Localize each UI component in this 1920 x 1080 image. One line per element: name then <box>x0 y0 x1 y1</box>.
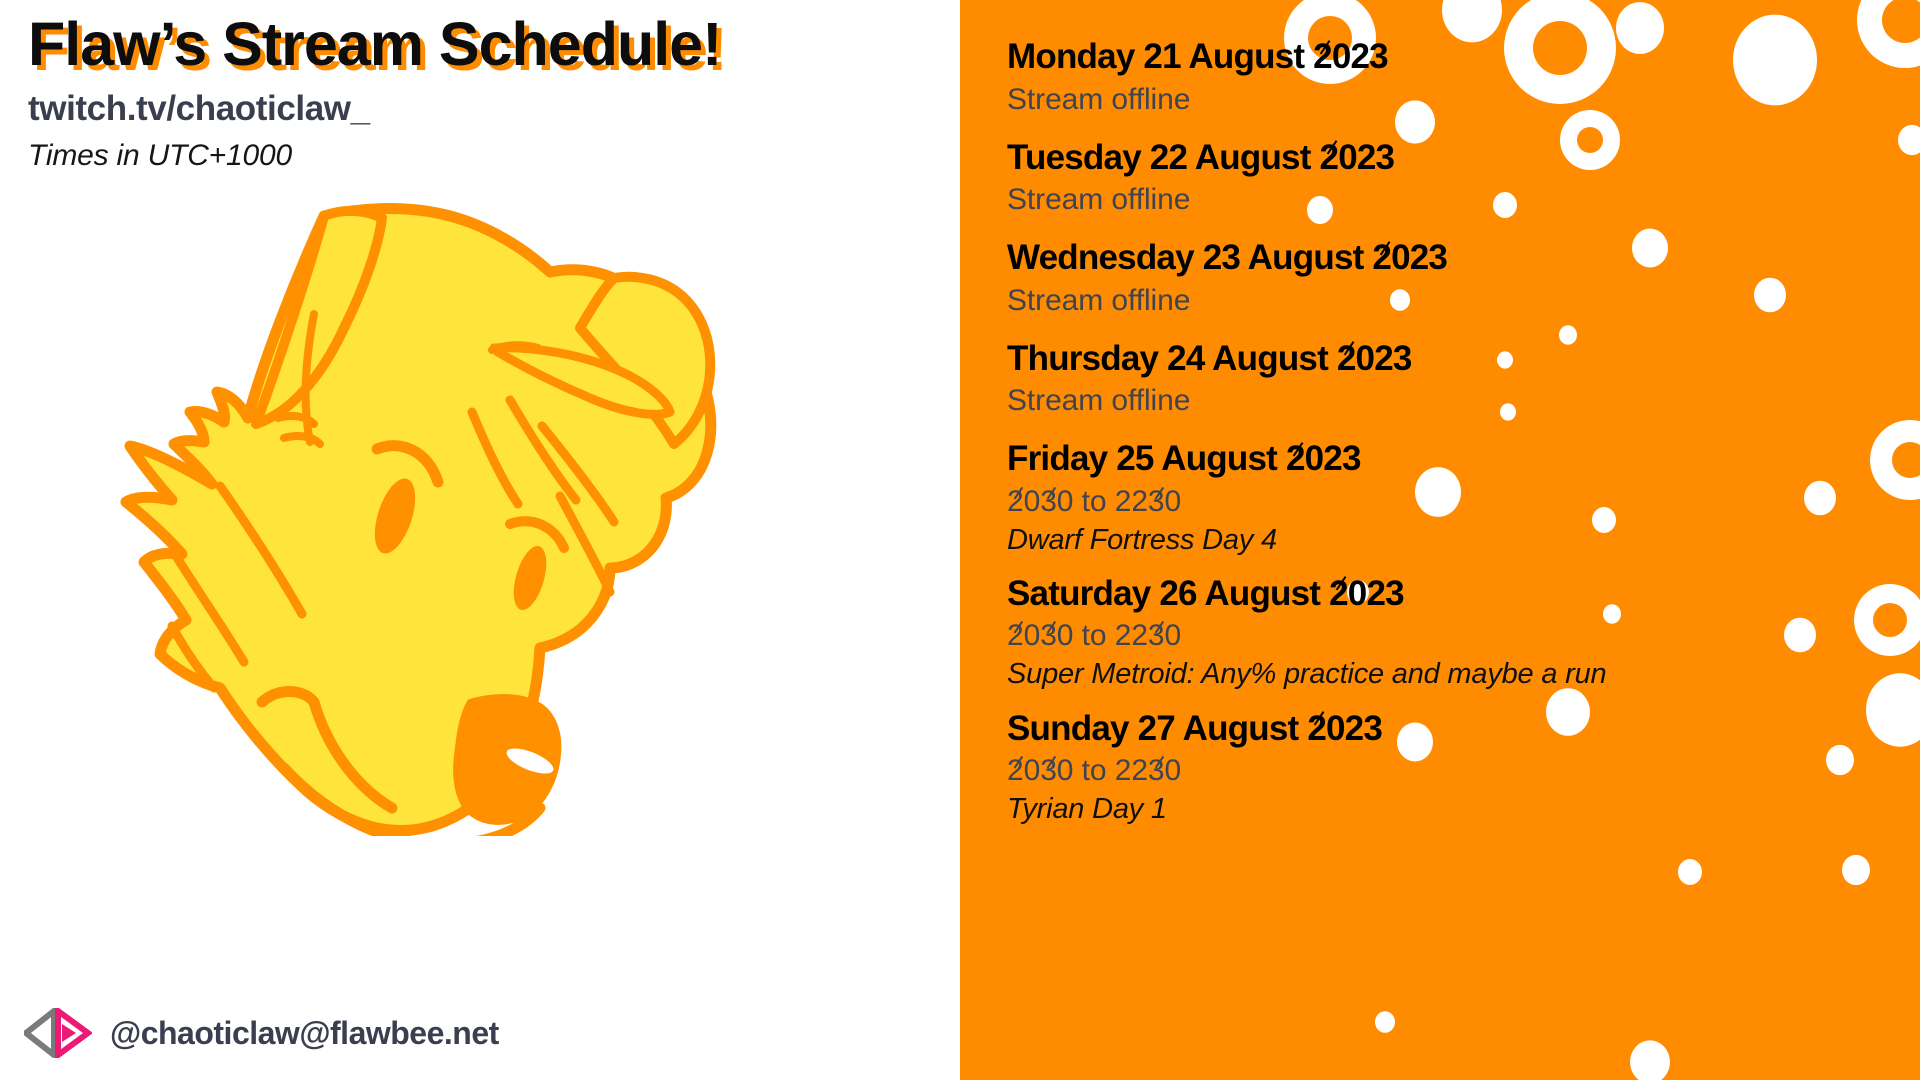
entry-time: 2030 to 2230 <box>1007 482 1807 521</box>
bubble-dot <box>1804 481 1836 516</box>
schedule-entry: Tuesday 22 August 2023Stream offline <box>1007 135 1807 220</box>
entry-description: Tyrian Day 1 <box>1007 790 1807 828</box>
page-title: Flaw’s Stream Schedule! <box>28 14 928 75</box>
entry-date: Monday 21 August 2023 <box>1007 34 1807 80</box>
mastodon-fediverse-logo-icon <box>24 1008 92 1058</box>
title-block: Flaw’s Stream Schedule! twitch.tv/chaoti… <box>28 14 928 173</box>
schedule-entry: Thursday 24 August 2023Stream offline <box>1007 336 1807 421</box>
schedule-entry: Sunday 27 August 20232030 to 2230Tyrian … <box>1007 706 1807 829</box>
entry-date: Saturday 26 August 2023 <box>1007 571 1807 617</box>
schedule-entry: Friday 25 August 20232030 to 2230Dwarf F… <box>1007 436 1807 559</box>
entry-time: 2030 to 2230 <box>1007 616 1807 655</box>
entry-date: Sunday 27 August 2023 <box>1007 706 1807 752</box>
schedule-graphic: Flaw’s Stream Schedule! twitch.tv/chaoti… <box>0 0 1920 1080</box>
left-panel: Flaw’s Stream Schedule! twitch.tv/chaoti… <box>0 0 960 1080</box>
logo-inner-triangle <box>62 1024 76 1042</box>
schedule-entry: Monday 21 August 2023Stream offline <box>1007 34 1807 119</box>
schedule-entry: Wednesday 23 August 2023Stream offline <box>1007 235 1807 320</box>
schedule-entry: Saturday 26 August 20232030 to 2230Super… <box>1007 571 1807 694</box>
entry-time: Stream offline <box>1007 80 1807 119</box>
yellow-fox-head-mascot <box>62 196 742 836</box>
bubble-dot <box>1898 125 1920 155</box>
bubble-dot <box>1842 855 1870 885</box>
schedule-list: Monday 21 August 2023Stream offlineTuesd… <box>1007 0 1807 1080</box>
entry-date: Friday 25 August 2023 <box>1007 436 1807 482</box>
entry-description: Dwarf Fortress Day 4 <box>1007 521 1807 559</box>
entry-time: Stream offline <box>1007 180 1807 219</box>
entry-date: Thursday 24 August 2023 <box>1007 336 1807 382</box>
entry-time: 2030 to 2230 <box>1007 751 1807 790</box>
logo-left-triangle <box>26 1011 54 1055</box>
footer-handle[interactable]: @chaoticlaw@flawbee.net <box>110 1015 499 1052</box>
entry-time: Stream offline <box>1007 281 1807 320</box>
entry-date: Wednesday 23 August 2023 <box>1007 235 1807 281</box>
bubble-ring <box>1870 420 1920 500</box>
mascot-svg <box>62 196 742 836</box>
bubble-ring <box>1857 0 1920 68</box>
channel-url[interactable]: twitch.tv/chaoticlaw_ <box>28 91 928 128</box>
footer: @chaoticlaw@flawbee.net <box>24 1008 499 1058</box>
bubble-dot <box>1826 745 1854 775</box>
bubble-dot <box>1866 673 1920 746</box>
bubble-ring <box>1854 584 1920 656</box>
entry-time: Stream offline <box>1007 381 1807 420</box>
entry-description: Super Metroid: Any% practice and maybe a… <box>1007 655 1807 693</box>
timezone-note: Times in UTC+1000 <box>28 139 928 173</box>
entry-date: Tuesday 22 August 2023 <box>1007 135 1807 181</box>
right-panel: Monday 21 August 2023Stream offlineTuesd… <box>960 0 1920 1080</box>
